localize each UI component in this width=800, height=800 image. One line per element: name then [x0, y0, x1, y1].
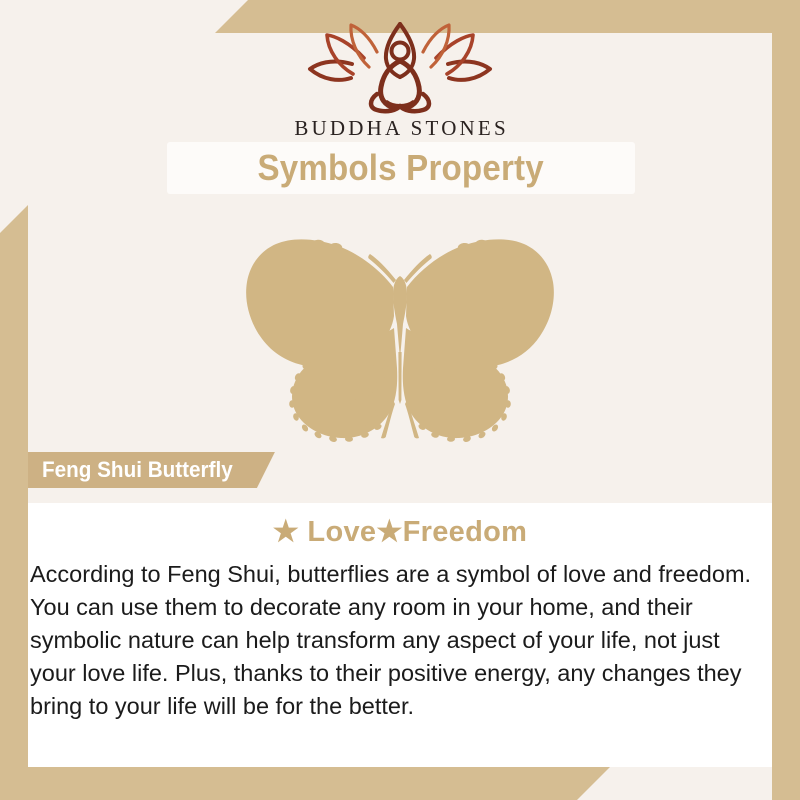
section-banner-label: Feng Shui Butterfly [42, 457, 233, 483]
page-title: Symbols Property [258, 147, 544, 189]
brand-wordmark: BUDDHA STONES [0, 116, 800, 141]
brand-logo: BUDDHA STONES [0, 22, 800, 141]
section-banner: Feng Shui Butterfly [28, 452, 275, 488]
content-subheading: ★ Love★Freedom [28, 514, 772, 549]
content-paragraph: According to Feng Shui, butterflies are … [28, 558, 772, 723]
lotus-meditation-figure-icon [305, 22, 495, 114]
content-panel: ★ Love★Freedom According to Feng Shui, b… [28, 503, 772, 767]
decor-band-bottom-left [0, 767, 610, 800]
butterfly-icon [220, 232, 580, 452]
page-root: BUDDHA STONES Symbols Property [0, 0, 800, 800]
hero-image [0, 232, 800, 457]
title-band: Symbols Property [167, 142, 635, 194]
